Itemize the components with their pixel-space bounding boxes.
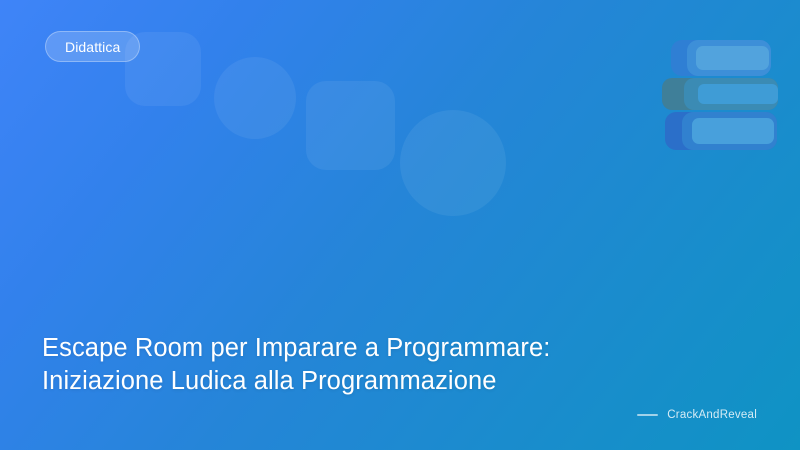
book-top [671, 40, 771, 76]
brand-rule-divider [637, 414, 658, 416]
book-bottom [665, 112, 777, 150]
page-title-line-1: Escape Room per Imparare a Programmare: [42, 332, 642, 365]
book-stack-icon [662, 34, 782, 152]
decor-rounded-square-2 [306, 81, 395, 170]
book-middle [662, 78, 778, 110]
brand-name: CrackAndReveal [667, 409, 757, 421]
promo-card: Didattica Escape Room [0, 0, 800, 450]
decor-circle-1 [214, 57, 296, 139]
page-title-line-2: Iniziazione Ludica alla Programmazione [42, 365, 642, 398]
category-badge-label: Didattica [65, 39, 120, 55]
category-badge[interactable]: Didattica [45, 31, 140, 62]
brand-mark: CrackAndReveal [637, 409, 757, 421]
page-title: Escape Room per Imparare a Programmare: … [42, 332, 642, 398]
decor-circle-2 [400, 110, 506, 216]
